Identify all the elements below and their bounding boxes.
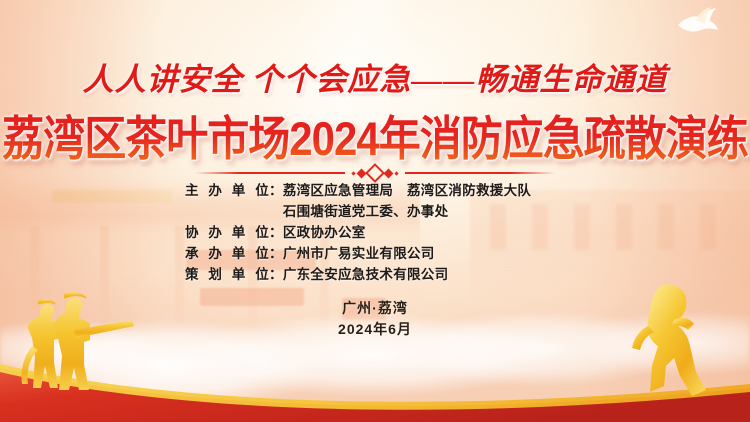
organizer-row: 主办单位 ： 荔湾区应急管理局 荔湾区消防救援大队: [185, 180, 565, 201]
poster-main-title: 荔湾区茶叶市场2024年消防应急疏散演练: [0, 101, 750, 169]
organizer-colon: ：: [269, 243, 283, 264]
organizer-list: 主办单位 ： 荔湾区应急管理局 荔湾区消防救援大队 主办单位 ： 石围塘街道党工…: [0, 180, 750, 285]
organizer-value: 广州市广易实业有限公司: [283, 243, 565, 264]
organizer-value: 区政协办公室: [283, 222, 565, 243]
organizer-row: 协办单位 ： 区政协办公室: [185, 222, 565, 243]
organizer-value: 荔湾区应急管理局 荔湾区消防救援大队: [283, 180, 565, 201]
poster-footer: 广州·荔湾 2024年6月: [0, 298, 750, 340]
decorative-divider: [0, 166, 750, 180]
poster-content: 人人讲安全 个个会应急——畅通生命通道 荔湾区茶叶市场2024年消防应急疏散演练…: [0, 0, 750, 422]
diamond-ornament-icon: [352, 166, 398, 180]
divider-rule-left: [195, 172, 345, 174]
organizer-row: 策划单位 ： 广东全安应急技术有限公司: [185, 264, 565, 285]
footer-date: 2024年6月: [0, 319, 750, 340]
organizer-value: 广东全安应急技术有限公司: [283, 264, 565, 285]
organizer-label: 策划单位: [185, 264, 269, 285]
organizer-colon: ：: [269, 222, 283, 243]
poster-subtitle: 人人讲安全 个个会应急——畅通生命通道: [0, 54, 750, 99]
organizer-colon: ：: [269, 264, 283, 285]
organizer-label: 主办单位: [185, 180, 269, 201]
organizer-value: 石围塘街道党工委、办事处: [283, 201, 565, 222]
footer-location: 广州·荔湾: [0, 298, 750, 319]
organizer-label: 承办单位: [185, 243, 269, 264]
divider-rule-right: [405, 172, 555, 174]
organizer-row: 承办单位 ： 广州市广易实业有限公司: [185, 243, 565, 264]
organizer-row: 主办单位 ： 石围塘街道党工委、办事处: [185, 201, 565, 222]
organizer-label: 协办单位: [185, 222, 269, 243]
organizer-colon: ：: [269, 180, 283, 201]
poster-canvas: 人人讲安全 个个会应急——畅通生命通道 荔湾区茶叶市场2024年消防应急疏散演练…: [0, 0, 750, 422]
